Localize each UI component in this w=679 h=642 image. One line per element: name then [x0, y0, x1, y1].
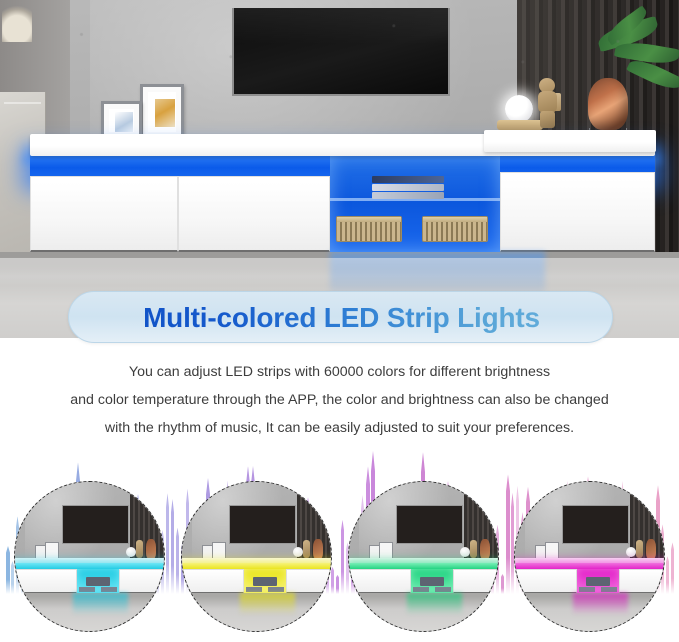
thumb-moon-lamp: [626, 547, 636, 557]
thumb-tv: [396, 505, 463, 544]
thumb-vase: [646, 539, 656, 559]
description-line-2: and color temperature through the APP, t…: [0, 386, 679, 414]
thumb-door-right: [619, 569, 665, 593]
thumb-astronaut: [303, 540, 310, 558]
thumbnail-green: [348, 481, 499, 632]
thumb-tv: [229, 505, 296, 544]
thumb-astronaut: [636, 540, 643, 558]
thumb-moon-lamp: [126, 547, 136, 557]
thumb-door-right: [286, 569, 332, 593]
picture-frame-large: [140, 84, 184, 140]
feature-title-pill: Multi-colored LED Strip Lights: [68, 291, 613, 343]
thumb-door-right: [119, 569, 165, 593]
thumb-floor-reflection: [240, 593, 295, 615]
thumb-cabinet-row: [349, 569, 499, 593]
thumb-tv: [562, 505, 629, 544]
thumb-door-left: [515, 569, 577, 593]
thumb-floor-reflection: [73, 593, 128, 615]
thumbnail-cyan: [14, 481, 165, 632]
description-line-3: with the rhythm of music, It can be easi…: [0, 414, 679, 442]
thumb-vase: [313, 539, 323, 559]
thumb-open-shelf: [577, 569, 619, 593]
thumb-cabinet-row: [182, 569, 332, 593]
thumb-tv: [62, 505, 129, 544]
hero-product-photo: [0, 0, 679, 338]
thumb-picture-frame-2: [545, 542, 559, 559]
page-title: Multi-colored LED Strip Lights: [69, 292, 614, 344]
thumb-astronaut: [136, 540, 143, 558]
product-feature-page: Multi-colored LED Strip Lights You can a…: [0, 0, 679, 642]
cabinet-door-2: [178, 176, 330, 252]
thumb-door-left: [15, 569, 77, 593]
thumb-cabinet-row: [15, 569, 165, 593]
open-shelf-compartment: [330, 154, 500, 252]
thumb-open-shelf: [244, 569, 286, 593]
woven-basket-right: [422, 216, 488, 242]
thumb-door-left: [182, 569, 244, 593]
thumb-vase: [480, 539, 490, 559]
cabinet-door-3: [500, 172, 655, 252]
thumb-astronaut: [470, 540, 477, 558]
thumb-cabinet-row: [515, 569, 665, 593]
thumb-vase: [146, 539, 156, 559]
thumb-picture-frame-2: [45, 542, 59, 559]
color-thumbnail-row: [0, 481, 679, 641]
thumb-picture-frame-2: [212, 542, 226, 559]
thumb-open-shelf: [77, 569, 119, 593]
stacked-books: [372, 176, 444, 200]
color-showcase: [0, 444, 679, 642]
thumbnail-magenta: [514, 481, 665, 632]
description-line-1: You can adjust LED strips with 60000 col…: [0, 358, 679, 386]
woven-basket-left: [336, 216, 402, 242]
thumbnail-yellow: [181, 481, 332, 632]
thumb-moon-lamp: [460, 547, 470, 557]
thumb-open-shelf: [411, 569, 453, 593]
cabinet-top-surface-right: [484, 130, 656, 152]
floor-gloss-sheen: [0, 258, 679, 286]
floor-texture: [0, 0, 679, 86]
thumb-door-left: [349, 569, 411, 593]
cabinet-door-1: [30, 176, 178, 252]
thumb-floor-reflection: [573, 593, 628, 615]
thumb-moon-lamp: [293, 547, 303, 557]
thumb-floor-reflection: [407, 593, 462, 615]
thumb-door-right: [453, 569, 499, 593]
moon-lamp: [505, 95, 533, 123]
feature-description: You can adjust LED strips with 60000 col…: [0, 358, 679, 442]
thumb-picture-frame-2: [379, 542, 393, 559]
